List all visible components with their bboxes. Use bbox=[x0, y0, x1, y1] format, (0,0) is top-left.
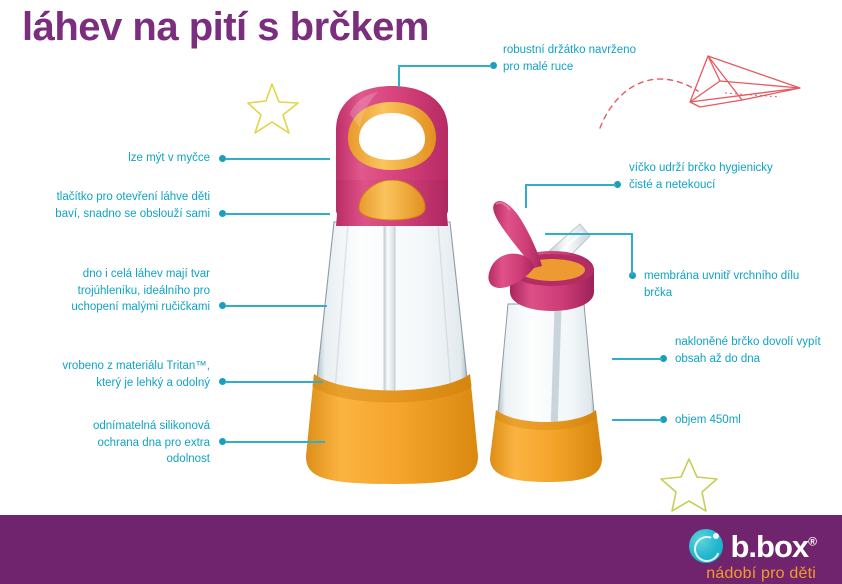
callout-membrane: membrána uvnitř vrchního dílu brčka bbox=[644, 268, 819, 301]
leader-line bbox=[225, 441, 325, 443]
logo-tagline: nádobí pro děti bbox=[706, 565, 816, 583]
paper-plane-icon bbox=[684, 48, 802, 110]
logo-row: b.box® bbox=[689, 529, 816, 563]
leader-line-vertical bbox=[631, 233, 633, 275]
callout-triangle-shape: dno i celá láhev mají tvar trojúhleníku,… bbox=[55, 266, 210, 316]
brand-logo: b.box® nádobí pro děti bbox=[689, 529, 816, 583]
bottle-closed bbox=[292, 84, 492, 489]
leader-line-vertical bbox=[525, 184, 527, 208]
logo-dot bbox=[713, 533, 719, 539]
logo-name-text: b.box bbox=[730, 529, 808, 564]
page-title: láhev na pití s brčkem bbox=[22, 4, 429, 50]
logo-name: b.box® bbox=[730, 531, 816, 562]
leader-line bbox=[612, 358, 662, 360]
leader-line bbox=[612, 419, 662, 421]
leader-line-vertical bbox=[398, 65, 400, 87]
infographic-canvas: láhev na pití s brčkem bbox=[0, 0, 842, 584]
star-icon bbox=[660, 456, 718, 512]
leader-line bbox=[225, 158, 330, 160]
bbox-circle-icon bbox=[689, 529, 723, 563]
leader-line bbox=[225, 305, 327, 307]
callout-angled-straw: nakloněné brčko dovolí vypít obsah až do… bbox=[675, 334, 840, 367]
leader-line bbox=[225, 213, 330, 215]
callout-tritan-material: vrobeno z materiálu Tritan™, který je le… bbox=[55, 358, 210, 391]
callout-lid-hygiene: víčko udrží brčko hygienicky čisté a net… bbox=[629, 160, 799, 193]
leader-line bbox=[525, 184, 616, 186]
callout-handle: robustní držátko navrženo pro malé ruce bbox=[503, 42, 653, 75]
leader-line bbox=[225, 381, 323, 383]
callout-open-button: tlačítko pro otevření láhve děti baví, s… bbox=[45, 189, 210, 222]
leader-line bbox=[398, 65, 492, 67]
leader-line bbox=[545, 233, 633, 235]
callout-volume: objem 450ml bbox=[675, 412, 825, 429]
callout-dishwasher: lze mýt v myčce bbox=[60, 150, 210, 167]
logo-trademark: ® bbox=[808, 534, 816, 548]
callout-silicone-base: odnímatelná silikonová ochrana dna pro e… bbox=[55, 418, 210, 468]
bottle-open bbox=[484, 196, 609, 488]
